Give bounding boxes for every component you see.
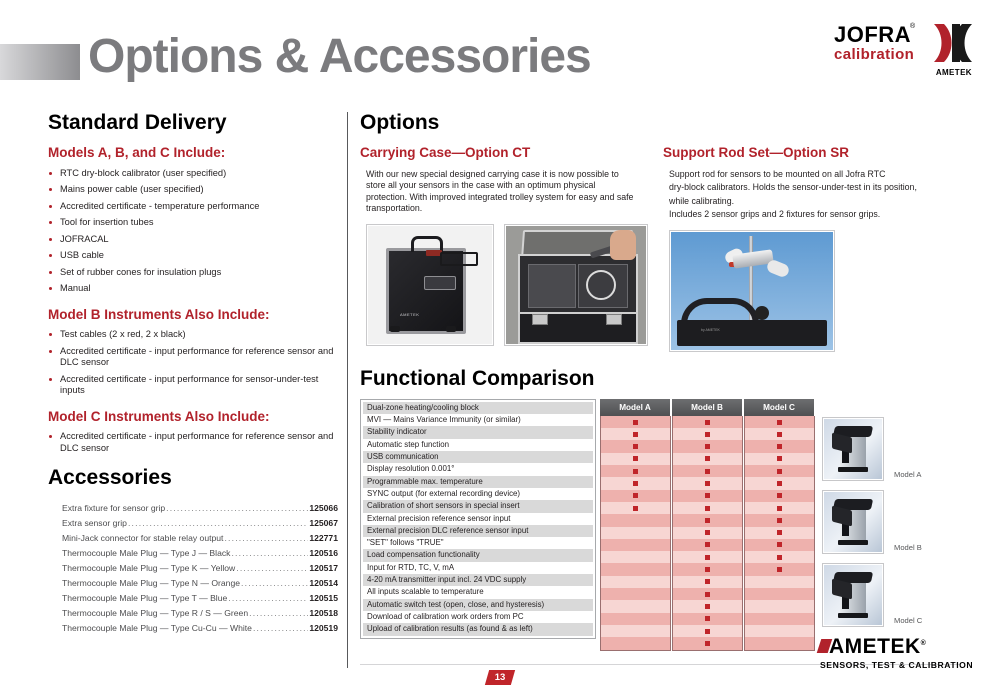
check-mark-icon	[777, 456, 782, 461]
check-mark-icon	[777, 506, 782, 511]
table-cell	[745, 440, 814, 452]
list-item: Mains power cable (user specified)	[48, 184, 338, 196]
page-title: Options & Accessories	[88, 33, 591, 81]
options-columns: Carrying Case—Option CT With our new spe…	[360, 146, 960, 352]
support-rod-description-line-3: while calibrating.	[663, 196, 960, 208]
table-cell	[601, 539, 670, 551]
list-item: JOFRACAL	[48, 234, 338, 246]
list-item: Thermocouple Male Plug — Type R / S — Gr…	[48, 606, 338, 621]
table-row-label: External precision reference sensor inpu…	[363, 513, 593, 525]
jofra-logo-word: JOFRA	[834, 24, 911, 46]
page-header: Options & Accessories JOFRA ® calibratio…	[0, 0, 1000, 100]
leader-dots: ........................................…	[231, 546, 308, 561]
column-header: Model C	[744, 399, 815, 416]
accessory-part-number: 120519	[309, 621, 338, 636]
table-cell	[601, 527, 670, 539]
table-cell	[601, 600, 670, 612]
accessory-part-number: 122771	[309, 531, 338, 546]
carrying-case-photos: AMETEK	[360, 224, 635, 346]
table-cell	[601, 625, 670, 637]
table-cell	[745, 416, 814, 428]
table-cell	[745, 490, 814, 502]
right-column: Options Carrying Case—Option CT With our…	[360, 112, 960, 651]
jofra-bowtie-icon	[930, 22, 974, 66]
standard-delivery-item-list: Test cables (2 x red, 2 x black)Accredit…	[48, 329, 338, 397]
feature-name-column: Dual-zone heating/cooling blockMVI — Mai…	[360, 399, 596, 639]
support-rod-subheading: Support Rod Set—Option SR	[663, 146, 960, 160]
support-rod-description-line-1: Support rod for sensors to be mounted on…	[663, 169, 960, 181]
list-item: Accredited certificate - input performan…	[48, 431, 338, 454]
support-rod-photo: by AMETEK	[669, 230, 835, 352]
leader-dots: ........................................…	[241, 576, 308, 591]
accessory-name: Thermocouple Male Plug — Type R / S — Gr…	[62, 606, 248, 621]
accessory-name: Thermocouple Male Plug — Type K — Yellow	[62, 561, 235, 576]
table-row-label: All inputs scalable to temperature	[363, 586, 593, 598]
table-cell	[601, 416, 670, 428]
functional-comparison-heading: Functional Comparison	[360, 368, 960, 389]
model-thumbnail-row: Model C	[822, 563, 952, 627]
table-cell	[673, 551, 742, 563]
list-item: Accredited certificate - input performan…	[48, 374, 338, 397]
ametek-logo-word: AMETEK®	[820, 636, 980, 657]
check-mark-icon	[777, 420, 782, 425]
support-rod-block: Support Rod Set—Option SR Support rod fo…	[663, 146, 960, 352]
table-cell	[601, 613, 670, 625]
table-cell	[601, 576, 670, 588]
table-row-label: 4-20 mA transmitter input incl. 24 VDC s…	[363, 574, 593, 586]
table-cell	[673, 563, 742, 575]
model-thumbnail-row: Model A	[822, 417, 952, 481]
accessories-heading: Accessories	[48, 467, 338, 488]
model-photo-label: Model B	[894, 543, 922, 554]
check-mark-icon	[777, 518, 782, 523]
table-cell	[601, 428, 670, 440]
jofra-ametek-text: AMETEK	[936, 68, 972, 77]
table-cell	[601, 588, 670, 600]
accessory-part-number: 125066	[309, 501, 338, 516]
model-photo	[822, 417, 884, 481]
table-row-label: Load compensation functionality	[363, 549, 593, 561]
ametek-logo: AMETEK® SENSORS, TEST & CALIBRATION	[820, 636, 980, 670]
leader-dots: ........................................…	[253, 621, 308, 636]
table-cell	[601, 453, 670, 465]
check-mark-icon	[705, 469, 710, 474]
leader-dots: ........................................…	[166, 501, 308, 516]
model-photo	[822, 490, 884, 554]
column-body	[744, 416, 815, 651]
carrying-case-description: With our new special designed carrying c…	[360, 169, 635, 215]
column-body	[600, 416, 671, 651]
check-mark-icon	[705, 542, 710, 547]
check-mark-icon	[705, 567, 710, 572]
leader-dots: ........................................…	[228, 591, 308, 606]
column-header: Model B	[672, 399, 743, 416]
table-cell	[673, 490, 742, 502]
table-cell	[673, 465, 742, 477]
list-item: Thermocouple Male Plug — Type J — Black.…	[48, 546, 338, 561]
table-cell	[673, 588, 742, 600]
table-cell	[673, 477, 742, 489]
jofra-logo-subtitle: calibration	[834, 47, 914, 62]
table-row-label: Dual-zone heating/cooling block	[363, 402, 593, 414]
standard-delivery-subheading: Model B Instruments Also Include:	[48, 308, 338, 322]
check-mark-icon	[633, 456, 638, 461]
check-mark-icon	[705, 530, 710, 535]
ametek-tagline: SENSORS, TEST & CALIBRATION	[820, 660, 980, 670]
check-mark-icon	[777, 444, 782, 449]
check-mark-icon	[705, 555, 710, 560]
check-mark-icon	[633, 444, 638, 449]
table-cell	[673, 539, 742, 551]
check-mark-icon	[633, 493, 638, 498]
list-item: Thermocouple Male Plug — Type Cu-Cu — Wh…	[48, 621, 338, 636]
model-thumbnails: Model AModel BModel C	[822, 417, 952, 636]
table-cell	[673, 637, 742, 649]
column-divider	[347, 112, 348, 668]
list-item: Test cables (2 x red, 2 x black)	[48, 329, 338, 341]
table-cell	[745, 502, 814, 514]
accessory-name: Thermocouple Male Plug — Type J — Black	[62, 546, 230, 561]
check-mark-icon	[777, 530, 782, 535]
jofra-logo: JOFRA ® calibration AMETEK	[834, 24, 974, 80]
table-cell	[601, 440, 670, 452]
accessory-part-number: 120518	[309, 606, 338, 621]
list-item: USB cable	[48, 250, 338, 262]
check-mark-icon	[633, 469, 638, 474]
model-columns: Model AModel BModel C	[600, 399, 816, 651]
check-mark-icon	[705, 629, 710, 634]
options-heading: Options	[360, 112, 960, 133]
page-number-text: 13	[487, 670, 513, 685]
check-mark-icon	[705, 432, 710, 437]
check-mark-icon	[705, 506, 710, 511]
table-row-label: MVI — Mains Variance Immunity (or simila…	[363, 414, 593, 426]
column-header: Model A	[600, 399, 671, 416]
header-gradient-bar	[0, 44, 80, 80]
table-row-label: SYNC output (for external recording devi…	[363, 488, 593, 500]
table-cell	[745, 514, 814, 526]
accessory-name: Thermocouple Male Plug — Type Cu-Cu — Wh…	[62, 621, 252, 636]
table-row-label: Input for RTD, TC, V, mA	[363, 562, 593, 574]
model-photo	[822, 563, 884, 627]
jofra-trademark-icon: ®	[910, 23, 915, 30]
list-item: Extra fixture for sensor grip...........…	[48, 501, 338, 516]
table-row-label: Display resolution 0.001°	[363, 463, 593, 475]
table-cell	[745, 428, 814, 440]
list-item: Set of rubber cones for insulation plugs	[48, 267, 338, 279]
list-item: RTC dry-block calibrator (user specified…	[48, 168, 338, 180]
page-number-badge: 13	[485, 670, 515, 685]
accessory-part-number: 120514	[309, 576, 338, 591]
check-mark-icon	[705, 481, 710, 486]
table-cell	[673, 440, 742, 452]
accessory-name: Thermocouple Male Plug — Type T — Blue	[62, 591, 227, 606]
table-row-label: Automatic step function	[363, 439, 593, 451]
list-item: Manual	[48, 283, 338, 295]
table-row-label: Automatic switch test (open, close, and …	[363, 599, 593, 611]
table-cell	[601, 465, 670, 477]
check-mark-icon	[633, 506, 638, 511]
list-item: Extra sensor grip.......................…	[48, 516, 338, 531]
table-cell	[745, 613, 814, 625]
table-cell	[745, 588, 814, 600]
table-row-label: Programmable max. temperature	[363, 476, 593, 488]
table-cell	[745, 477, 814, 489]
accessory-name: Thermocouple Male Plug — Type N — Orange	[62, 576, 240, 591]
check-mark-icon	[705, 579, 710, 584]
check-mark-icon	[633, 481, 638, 486]
table-cell	[745, 563, 814, 575]
table-cell	[745, 539, 814, 551]
standard-delivery-groups: Models A, B, and C Include:RTC dry-block…	[48, 146, 338, 454]
carrying-case-block: Carrying Case—Option CT With our new spe…	[360, 146, 635, 352]
list-item: Tool for insertion tubes	[48, 217, 338, 229]
column-body	[672, 416, 743, 651]
check-mark-icon	[777, 542, 782, 547]
table-row-label: Stability indicator	[363, 426, 593, 438]
check-mark-icon	[705, 641, 710, 646]
table-cell	[601, 514, 670, 526]
table-cell	[673, 613, 742, 625]
model-photo-label: Model C	[894, 616, 922, 627]
functional-comparison-table: Dual-zone heating/cooling blockMVI — Mai…	[360, 399, 960, 651]
carrying-case-open-photo	[504, 224, 648, 346]
check-mark-icon	[777, 432, 782, 437]
list-item: Thermocouple Male Plug — Type N — Orange…	[48, 576, 338, 591]
accessory-part-number: 120517	[309, 561, 338, 576]
table-cell	[673, 514, 742, 526]
standard-delivery-subheading: Model C Instruments Also Include:	[48, 410, 338, 424]
ametek-registered-icon: ®	[921, 640, 927, 647]
table-cell	[745, 465, 814, 477]
leader-dots: ........................................…	[128, 516, 308, 531]
accessory-part-number: 120515	[309, 591, 338, 606]
check-mark-icon	[705, 444, 710, 449]
accessory-part-number: 125067	[309, 516, 338, 531]
carrying-case-subheading: Carrying Case—Option CT	[360, 146, 635, 160]
leader-dots: ........................................…	[249, 606, 308, 621]
page-root: Options & Accessories JOFRA ® calibratio…	[0, 0, 1000, 698]
standard-delivery-heading: Standard Delivery	[48, 112, 338, 133]
table-cell	[745, 600, 814, 612]
table-cell	[601, 551, 670, 563]
table-cell	[673, 428, 742, 440]
table-cell	[745, 625, 814, 637]
accessory-part-number: 120516	[309, 546, 338, 561]
table-cell	[673, 600, 742, 612]
check-mark-icon	[705, 592, 710, 597]
table-cell	[745, 527, 814, 539]
support-rod-photos: by AMETEK	[663, 230, 960, 352]
leader-dots: ........................................…	[236, 561, 308, 576]
table-cell	[601, 563, 670, 575]
table-cell	[673, 527, 742, 539]
check-mark-icon	[705, 456, 710, 461]
carrying-case-closed-photo: AMETEK	[366, 224, 494, 346]
table-row-label: "SET" follows "TRUE"	[363, 537, 593, 549]
standard-delivery-item-list: RTC dry-block calibrator (user specified…	[48, 168, 338, 295]
list-item: Accredited certificate - temperature per…	[48, 201, 338, 213]
table-cell	[745, 551, 814, 563]
model-column: Model C	[744, 399, 815, 651]
table-cell	[601, 490, 670, 502]
table-cell	[745, 453, 814, 465]
table-cell	[673, 576, 742, 588]
check-mark-icon	[705, 604, 710, 609]
check-mark-icon	[633, 432, 638, 437]
list-item: Thermocouple Male Plug — Type T — Blue..…	[48, 591, 338, 606]
model-column: Model A	[600, 399, 671, 651]
list-item: Mini-Jack connector for stable relay out…	[48, 531, 338, 546]
model-thumbnail-row: Model B	[822, 490, 952, 554]
table-cell	[601, 477, 670, 489]
check-mark-icon	[633, 420, 638, 425]
standard-delivery-item-list: Accredited certificate - input performan…	[48, 431, 338, 454]
check-mark-icon	[777, 555, 782, 560]
table-row-label: Download of calibration work orders from…	[363, 611, 593, 623]
list-item: Accredited certificate - input performan…	[48, 346, 338, 369]
check-mark-icon	[705, 616, 710, 621]
table-cell	[745, 637, 814, 649]
table-row-label: USB communication	[363, 451, 593, 463]
model-photo-label: Model A	[894, 470, 921, 481]
table-cell	[673, 625, 742, 637]
leader-dots: ........................................…	[224, 531, 308, 546]
table-cell	[601, 637, 670, 649]
check-mark-icon	[777, 481, 782, 486]
check-mark-icon	[705, 518, 710, 523]
table-cell	[673, 416, 742, 428]
accessory-name: Extra fixture for sensor grip	[62, 501, 165, 516]
check-mark-icon	[705, 493, 710, 498]
table-cell	[601, 502, 670, 514]
table-row-label: Calibration of short sensors in special …	[363, 500, 593, 512]
check-mark-icon	[777, 493, 782, 498]
accessory-name: Extra sensor grip	[62, 516, 127, 531]
support-rod-description-line-4: Includes 2 sensor grips and 2 fixtures f…	[663, 209, 960, 221]
table-row-label: Upload of calibration results (as found …	[363, 623, 593, 635]
table-cell	[673, 502, 742, 514]
check-mark-icon	[705, 420, 710, 425]
accessory-name: Mini-Jack connector for stable relay out…	[62, 531, 223, 546]
accessories-list: Extra fixture for sensor grip...........…	[48, 501, 338, 636]
table-cell	[745, 576, 814, 588]
check-mark-icon	[777, 567, 782, 572]
support-rod-description-line-2: dry-block calibrators. Holds the sensor-…	[663, 182, 960, 194]
model-column: Model B	[672, 399, 743, 651]
check-mark-icon	[777, 469, 782, 474]
table-row-label: External precision DLC reference sensor …	[363, 525, 593, 537]
left-column: Standard Delivery Models A, B, and C Inc…	[48, 112, 338, 636]
list-item: Thermocouple Male Plug — Type K — Yellow…	[48, 561, 338, 576]
table-cell	[673, 453, 742, 465]
ametek-word-text: AMETEK	[820, 635, 921, 658]
standard-delivery-subheading: Models A, B, and C Include:	[48, 146, 338, 160]
